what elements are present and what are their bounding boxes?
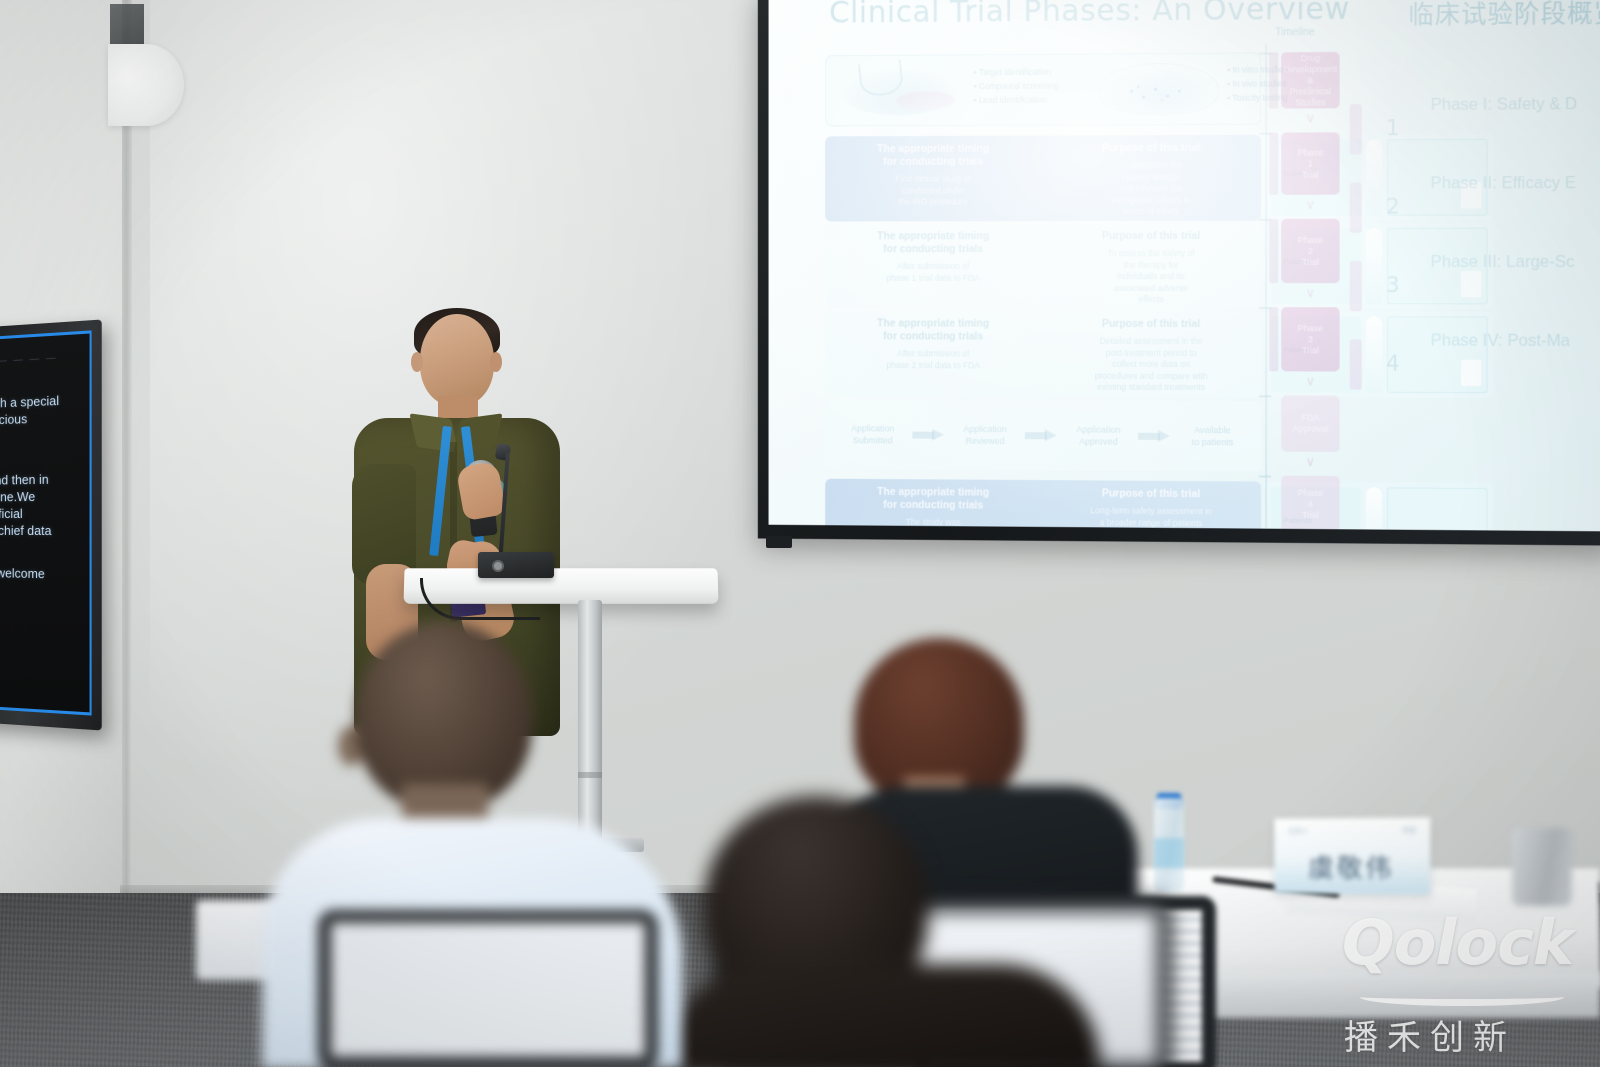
- chevron-down-icon: ∨: [1302, 456, 1318, 468]
- monitor-bezel: — — — — — such a special precious , and …: [0, 330, 92, 715]
- timeline-bar: [1269, 219, 1278, 283]
- projection-screen-surface: Clinical Trial Phases: An Overview 临床试验阶…: [769, 0, 1600, 531]
- timing-header: The appropriate timing for conducting tr…: [835, 486, 1032, 513]
- chevron-down-icon: ∨: [1302, 375, 1318, 387]
- approval-workflow-row: Application Submitted Application Review…: [825, 400, 1261, 472]
- presenter-ear-left: [411, 352, 423, 372]
- phase-list-item: 1 Phase I: Safety & D: [1364, 89, 1600, 169]
- caption-line: is one.We: [0, 488, 84, 506]
- caption-line: he chief data: [0, 523, 84, 540]
- lab-mouse-dots: [1125, 83, 1191, 103]
- preclinical-band-right: In vitro studies In vivo studies Toxicit…: [1081, 53, 1261, 126]
- tumbler-cup: [1512, 828, 1572, 906]
- bullet-item: Compound screening: [973, 79, 1058, 93]
- petri-dish-icon: [897, 91, 956, 111]
- arrow-right-icon: [1025, 429, 1059, 442]
- presenter-ear-right: [490, 352, 502, 372]
- timing-cell: The appropriate timing for conducting tr…: [825, 479, 1042, 532]
- name-placard: 主持人 专家 虞敬伟: [1274, 817, 1430, 894]
- timing-header: The appropriate timing for conducting tr…: [835, 143, 1032, 169]
- conference-mic-base: [478, 552, 554, 578]
- purpose-cell: Purpose of this trial Detailed assessmen…: [1042, 311, 1261, 398]
- timing-cell: The appropriate timing for conducting tr…: [825, 136, 1042, 222]
- bullet-item: Target identification: [973, 65, 1058, 79]
- illustration-card: [1387, 487, 1488, 531]
- timeline-bar: [1269, 133, 1278, 195]
- phase-label: Phase I: Safety & D: [1431, 95, 1578, 115]
- wall-speaker-fixture: [108, 44, 184, 126]
- timing-cell: The appropriate timing for conducting tr…: [825, 223, 1042, 309]
- preclinical-bullets-left: Target identification Compound screening…: [973, 65, 1058, 107]
- attendee-light-blue-shirt: [262, 622, 682, 1067]
- timeline-tick: [1259, 395, 1271, 397]
- phase-label: Phase II: Efficacy E: [1431, 174, 1576, 194]
- presentation-photo-scene: — — — — — such a special precious , and …: [0, 0, 1600, 1067]
- phase-row-3: The appropriate timing for conducting tr…: [825, 310, 1261, 397]
- purpose-header: Purpose of this trial: [1052, 142, 1251, 156]
- purpose-header: Purpose of this trial: [1052, 318, 1251, 331]
- chair-mesh-back: [331, 923, 645, 1057]
- timing-header: The appropriate timing for conducting tr…: [835, 230, 1032, 256]
- phase-number: 3: [1386, 273, 1400, 297]
- timing-body: After submission of phase 1 trial data t…: [835, 261, 1032, 284]
- phase-summary-list: 1 Phase I: Safety & D 2 Phase II: Effica…: [1364, 89, 1600, 405]
- purpose-cell: Purpose of this trial To determine the o…: [1042, 135, 1261, 221]
- timeline-bar: [1269, 52, 1278, 108]
- purpose-body: To assess the safety of the therapy for …: [1052, 248, 1251, 306]
- phase-row-2: The appropriate timing for conducting tr…: [825, 223, 1261, 309]
- phase-list-item: 2 Phase II: Efficacy E: [1364, 168, 1600, 247]
- screen-mount-foot: [766, 536, 792, 548]
- arrow-right-icon: [912, 428, 945, 441]
- phase-label: Phase IV: Post-Ma: [1431, 331, 1570, 351]
- attendee-head: [356, 622, 532, 810]
- purpose-cell: Purpose of this trial To assess the safe…: [1042, 223, 1261, 309]
- timing-body: First clinical study is conducted under …: [835, 173, 1032, 208]
- phase-number: 1: [1386, 116, 1400, 140]
- caption-line: , and then in: [0, 471, 84, 489]
- placard-subtext: 主持人 专家: [1288, 826, 1416, 837]
- monitor-screen: — — — — — such a special precious , and …: [0, 334, 90, 713]
- purpose-body: Detailed assessment in the post-treatmen…: [1052, 336, 1251, 394]
- purpose-body: To determine the optimal dosage and eval…: [1052, 160, 1251, 218]
- timeline-axis: [1265, 44, 1267, 527]
- timing-body: The study was conducted for patients as …: [835, 516, 1032, 531]
- slide-title-en: Clinical Trial Phases: An Overview: [829, 0, 1350, 30]
- phase-number: 4: [1386, 352, 1400, 376]
- timeline-node: Phase 2 Trial: [1281, 219, 1339, 283]
- approval-step: Application Reviewed: [953, 423, 1018, 447]
- projection-screen-frame: Clinical Trial Phases: An Overview 临床试验阶…: [758, 0, 1600, 546]
- purpose-body: Long-term safety assessment in a broader…: [1052, 505, 1251, 529]
- approval-step: Available to patients: [1179, 424, 1245, 448]
- timeline-bar: [1269, 307, 1278, 371]
- timeline-node: Phase 3 Trial: [1281, 307, 1339, 371]
- attendee-dark-hair: [660, 796, 1100, 1067]
- phase-chip: [1350, 261, 1362, 311]
- chevron-down-icon: ∨: [1302, 199, 1318, 211]
- column-edge: [122, 0, 132, 900]
- timeline-node: FDA Approval: [1281, 395, 1339, 451]
- chevron-down-icon: ∨: [1302, 287, 1318, 299]
- attendee-torso: [660, 964, 1100, 1067]
- timeline-node: Drug Development & Preclinical Studies: [1281, 52, 1339, 109]
- placard-name-text: 虞敬伟: [1274, 848, 1430, 886]
- presenter-head: [420, 314, 494, 406]
- timeline-label: Timeline: [1275, 26, 1315, 38]
- water-bottle-label: [1154, 838, 1184, 868]
- phase-row-1: The appropriate timing for conducting tr…: [825, 135, 1261, 222]
- timing-header: The appropriate timing for conducting tr…: [835, 317, 1032, 343]
- phase-chip: [1350, 339, 1362, 389]
- approval-step: Application Approved: [1066, 423, 1132, 447]
- mic-mute-button[interactable]: [492, 560, 504, 572]
- caption-monitor: — — — — — such a special precious , and …: [0, 320, 102, 731]
- fixture-mount-bracket: [110, 4, 144, 44]
- purpose-cell: Purpose of this trial Long-term safety a…: [1042, 480, 1261, 531]
- watermark-wordmark: Qolock: [1342, 906, 1573, 979]
- phase-label: Phase III: Large-Sc: [1431, 253, 1575, 272]
- timing-cell: The appropriate timing for conducting tr…: [825, 310, 1042, 396]
- phase-list-item: 4 Phase IV: Post-Ma: [1364, 325, 1600, 405]
- caption-line: t's welcome: [0, 565, 84, 584]
- arrow-right-icon: [1138, 429, 1172, 442]
- person-figure-icon: [1365, 487, 1381, 531]
- approval-step: Application Submitted: [840, 422, 905, 446]
- phase-row-4: The appropriate timing for conducting tr…: [825, 479, 1261, 532]
- phase-list-item: 3 Phase III: Large-Sc: [1364, 247, 1600, 326]
- bullet-item: Lead identification: [973, 93, 1058, 107]
- timeline-column: Timeline Drug Development & Preclinical …: [1259, 28, 1346, 530]
- chevron-down-icon: ∨: [1302, 112, 1318, 124]
- timeline-node: Phase 1 Trial: [1281, 132, 1339, 194]
- placard-subtext-right: 专家: [1402, 826, 1416, 836]
- phase-chip: [1350, 104, 1362, 154]
- purpose-header: Purpose of this trial: [1052, 487, 1251, 501]
- mic-cable: [420, 578, 540, 620]
- timing-body: After submission of phase 2 trial data t…: [835, 348, 1032, 371]
- presentation-slide: Clinical Trial Phases: An Overview 临床试验阶…: [769, 0, 1600, 531]
- watermark-swoosh-icon: [1360, 988, 1564, 1006]
- caption-line: artificial: [0, 506, 84, 523]
- watermark-chinese-text: 播禾创新: [1344, 1010, 1516, 1059]
- slide-title-cn: 临床试验阶段概览: [1408, 0, 1600, 31]
- office-chair-left: [318, 910, 658, 1067]
- placard-subtext-left: 主持人: [1288, 826, 1308, 836]
- timeline-tick: [1259, 475, 1271, 477]
- phase-number: 2: [1386, 195, 1400, 219]
- watermark: Qolock 播禾创新: [1338, 906, 1590, 1056]
- purpose-header: Purpose of this trial: [1052, 230, 1251, 243]
- timeline-node: Phase 4 Trial: [1281, 476, 1339, 532]
- phase-chip: [1350, 183, 1362, 233]
